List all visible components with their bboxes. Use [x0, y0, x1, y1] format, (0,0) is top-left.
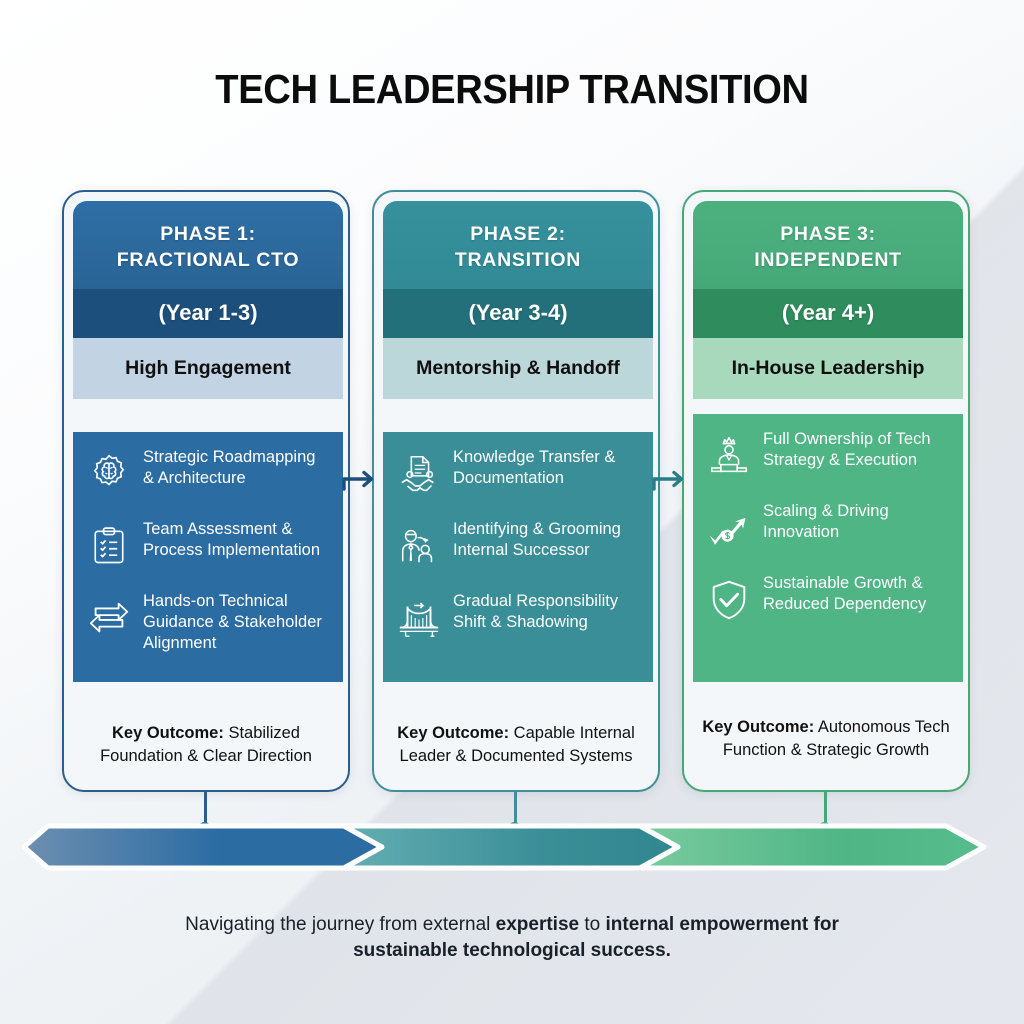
phase-1-title: PHASE 1: FRACTIONAL CTO — [73, 201, 343, 289]
phase-3-feature-list: Full Ownership of Tech Strategy & Execut… — [693, 414, 963, 682]
growth-arrow-dollar-icon — [703, 502, 755, 554]
phase-1-feature-1: Strategic Roadmapping & Architecture — [83, 446, 329, 500]
phase-1-title-line2: FRACTIONAL CTO — [117, 249, 299, 271]
two-way-arrows-icon — [83, 592, 135, 644]
phase-1-feature-3-label: Hands-on Technical Guidance & Stakeholde… — [143, 590, 329, 654]
phase-2-feature-2: Identifying & Grooming Internal Successo… — [393, 518, 639, 572]
phase-card-2[interactable]: PHASE 2: TRANSITION (Year 3-4) Mentorshi… — [372, 190, 660, 792]
phase-3-feature-2: Scaling & Driving Innovation — [703, 500, 949, 554]
connector-arrow-2-3 — [648, 455, 694, 501]
phase-1-header-block: PHASE 1: FRACTIONAL CTO (Year 1-3) High … — [73, 201, 343, 399]
connector-arrow-1-2 — [338, 455, 384, 501]
page-title: TECH LEADERSHIP TRANSITION — [36, 66, 988, 113]
progress-arrow — [22, 814, 1006, 880]
phase-3-subtitle: In-House Leadership — [693, 338, 963, 399]
phase-3-feature-3: Sustainable Growth & Reduced Dependency — [703, 572, 949, 626]
phase-2-title-line1: PHASE 2: — [470, 223, 566, 245]
phase-card-1[interactable]: PHASE 1: FRACTIONAL CTO (Year 1-3) High … — [62, 190, 350, 792]
phase-1-feature-3: Hands-on Technical Guidance & Stakeholde… — [83, 590, 329, 654]
phase-2-outcome-label: Key Outcome: — [397, 724, 509, 742]
phase-2-feature-1: Knowledge Transfer & Documentation — [393, 446, 639, 500]
clipboard-checklist-icon — [83, 520, 135, 572]
phase-3-title-line2: INDEPENDENT — [754, 249, 901, 271]
phase-card-3[interactable]: PHASE 3: INDEPENDENT (Year 4+) In-House … — [682, 190, 970, 792]
phase-1-subtitle: High Engagement — [73, 338, 343, 399]
phase-2-feature-list: Knowledge Transfer & Documentation — [383, 432, 653, 682]
phase-1-feature-1-label: Strategic Roadmapping & Architecture — [143, 446, 329, 489]
caption: Navigating the journey from external exp… — [160, 912, 864, 964]
shield-check-icon — [703, 574, 755, 626]
phase-2-year: (Year 3-4) — [383, 289, 653, 338]
brain-gear-icon — [83, 448, 135, 500]
phase-3-outcome-label: Key Outcome: — [702, 718, 814, 736]
phase-1-year: (Year 1-3) — [73, 289, 343, 338]
mentor-successor-icon — [393, 520, 445, 572]
phase-2-feature-3-label: Gradual Responsibility Shift & Shadowing — [453, 590, 639, 633]
phase-3-key-outcome: Key Outcome: Autonomous Tech Function & … — [693, 716, 959, 762]
phase-2-title-line2: TRANSITION — [455, 249, 581, 271]
phase-3-feature-1: Full Ownership of Tech Strategy & Execut… — [703, 428, 949, 482]
crowned-leader-podium-icon — [703, 430, 755, 482]
phase-2-feature-2-label: Identifying & Grooming Internal Successo… — [453, 518, 639, 561]
phase-1-title-line1: PHASE 1: — [160, 223, 256, 245]
bridge-icon — [393, 592, 445, 644]
infographic-canvas: TECH LEADERSHIP TRANSITION PHASE 1: FRAC… — [0, 0, 1024, 1024]
phase-1-outcome-label: Key Outcome: — [112, 724, 224, 742]
phase-3-title-line1: PHASE 3: — [780, 223, 876, 245]
caption-bold-1: expertise — [496, 914, 579, 935]
phase-3-year: (Year 4+) — [693, 289, 963, 338]
phase-1-feature-2-label: Team Assessment & Process Implementation — [143, 518, 329, 561]
phase-1-feature-2: Team Assessment & Process Implementation — [83, 518, 329, 572]
phase-2-header-block: PHASE 2: TRANSITION (Year 3-4) Mentorshi… — [383, 201, 653, 399]
phase-3-title: PHASE 3: INDEPENDENT — [693, 201, 963, 289]
phase-2-feature-1-label: Knowledge Transfer & Documentation — [453, 446, 639, 489]
phase-2-feature-3: Gradual Responsibility Shift & Shadowing — [393, 590, 639, 644]
document-handshake-icon — [393, 448, 445, 500]
phase-2-key-outcome: Key Outcome: Capable Internal Leader & D… — [383, 722, 649, 768]
caption-plain-1: Navigating the journey from external — [185, 914, 496, 935]
phase-3-feature-1-label: Full Ownership of Tech Strategy & Execut… — [763, 428, 949, 471]
phase-3-feature-2-label: Scaling & Driving Innovation — [763, 500, 949, 543]
phase-1-key-outcome: Key Outcome: Stabilized Foundation & Cle… — [73, 722, 339, 768]
phase-3-header-block: PHASE 3: INDEPENDENT (Year 4+) In-House … — [693, 201, 963, 399]
phase-3-feature-3-label: Sustainable Growth & Reduced Dependency — [763, 572, 949, 615]
phase-2-title: PHASE 2: TRANSITION — [383, 201, 653, 289]
phase-1-feature-list: Strategic Roadmapping & Architecture Tea… — [73, 432, 343, 682]
phase-2-subtitle: Mentorship & Handoff — [383, 338, 653, 399]
caption-plain-2: to — [579, 914, 605, 935]
